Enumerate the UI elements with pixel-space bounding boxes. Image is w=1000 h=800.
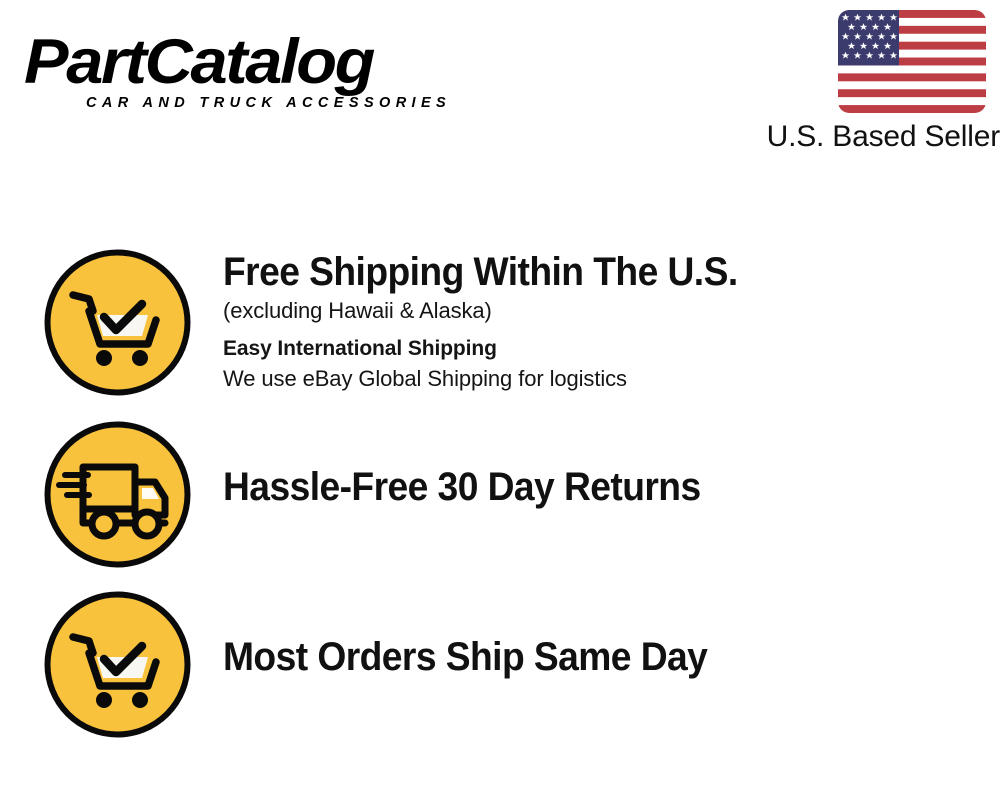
feature-text-block: Most Orders Ship Same Day: [223, 590, 983, 681]
feature-text-block: Free Shipping Within The U.S. (excluding…: [223, 248, 983, 394]
feature-headline: Hassle-Free 30 Day Returns: [223, 463, 930, 511]
feature-list: Free Shipping Within The U.S. (excluding…: [0, 175, 1000, 800]
shopping-cart-check-icon: [43, 590, 192, 739]
feature-text-block: Hassle-Free 30 Day Returns: [223, 420, 983, 511]
feature-subline: We use eBay Global Shipping for logistic…: [223, 364, 983, 394]
us-flag-icon: [838, 10, 986, 113]
feature-row: Most Orders Ship Same Day: [0, 590, 1000, 748]
brand-tagline: CAR AND TRUCK ACCESSORIES: [86, 94, 451, 112]
spacer: [223, 326, 983, 334]
feature-headline: Free Shipping Within The U.S.: [223, 248, 930, 296]
shopping-cart-check-icon: [43, 248, 192, 397]
brand-logo[interactable]: PartCatalog CAR AND TRUCK ACCESSORIES: [24, 26, 494, 114]
feature-subline-bold: Easy International Shipping: [223, 334, 983, 364]
feature-subline: (excluding Hawaii & Alaska): [223, 296, 983, 326]
feature-row: Hassle-Free 30 Day Returns: [0, 420, 1000, 578]
us-based-seller-label: U.S. Based Seller: [715, 119, 1000, 155]
feature-row: Free Shipping Within The U.S. (excluding…: [0, 248, 1000, 406]
us-flag-badge: [838, 10, 986, 113]
page-header: PartCatalog CAR AND TRUCK ACCESSORIES: [0, 0, 1000, 175]
delivery-truck-icon: [43, 420, 192, 569]
feature-headline: Most Orders Ship Same Day: [223, 633, 930, 681]
brand-wordmark: PartCatalog: [24, 26, 373, 98]
